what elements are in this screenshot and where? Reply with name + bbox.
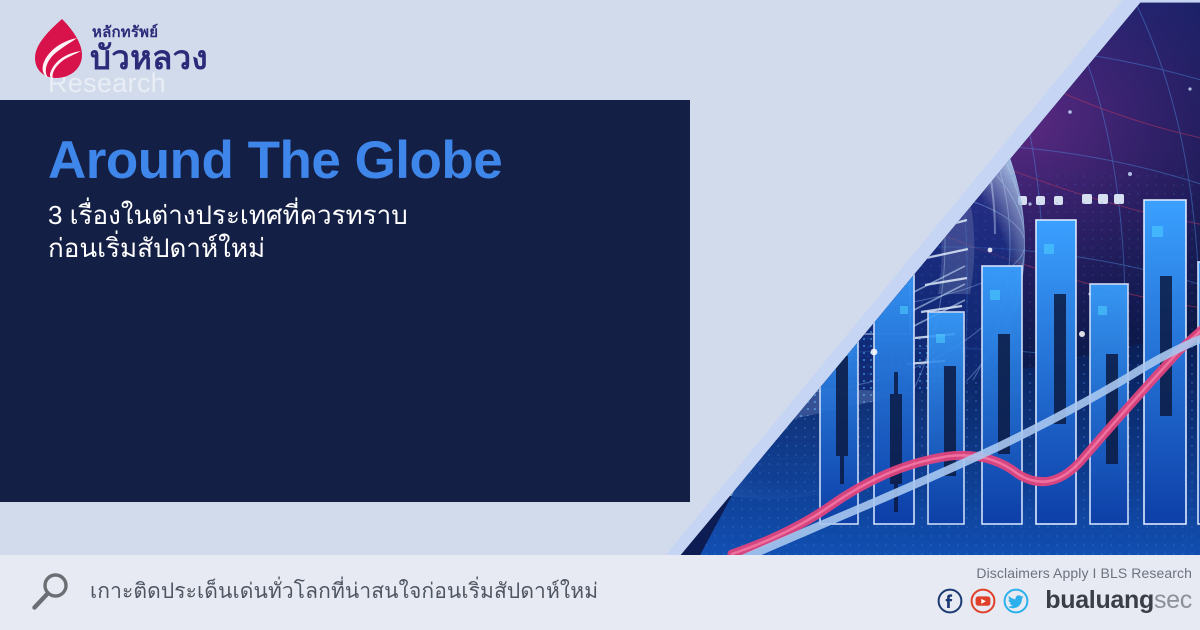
disclaimer-text: Disclaimers Apply I BLS Research bbox=[892, 565, 1192, 581]
handle-light: sec bbox=[1154, 586, 1192, 614]
logo-wordmark: หลักทรัพย์ บัวหลวง bbox=[90, 25, 208, 74]
logo-text-small: หลักทรัพย์ bbox=[92, 25, 208, 40]
svg-text:120,000: 120,000 bbox=[525, 508, 677, 555]
facebook-icon[interactable] bbox=[937, 588, 963, 614]
magnifier-icon bbox=[27, 569, 73, 615]
svg-text:2.0: 2.0 bbox=[722, 363, 778, 407]
research-banner: หลักทรัพย์ บัวหลวง Research Around The G… bbox=[0, 0, 1200, 630]
svg-text:2.06: 2.06 bbox=[720, 285, 798, 329]
social-links: bualuangsec bbox=[892, 586, 1192, 615]
lotus-flame-icon bbox=[32, 18, 84, 80]
bualuang-securities-logo: หลักทรัพย์ บัวหลวง bbox=[32, 10, 252, 88]
footer-bar: เกาะติดประเด็นเด่นทั่วโลกที่น่าสนใจก่อนเ… bbox=[0, 555, 1200, 630]
hero-text-block: Research Around The Globe 3 เรื่องในต่าง… bbox=[48, 68, 518, 265]
twitter-icon[interactable] bbox=[1003, 588, 1029, 614]
footer-tagline: เกาะติดประเด็นเด่นทั่วโลกที่น่าสนใจก่อนเ… bbox=[90, 575, 598, 608]
svg-text:2.06: 2.06 bbox=[708, 211, 786, 255]
footer-right-block: Disclaimers Apply I BLS Research bbox=[892, 565, 1192, 615]
logo-text-large: บัวหลวง bbox=[90, 41, 208, 74]
brand-handle: bualuangsec bbox=[1045, 586, 1192, 615]
youtube-icon[interactable] bbox=[970, 588, 996, 614]
subtitle: 3 เรื่องในต่างประเทศที่ควรทราบ ก่อนเริ่ม… bbox=[48, 199, 518, 266]
subtitle-line-1: 3 เรื่องในต่างประเทศที่ควรทราบ bbox=[48, 199, 518, 232]
page-title: Around The Globe bbox=[48, 133, 518, 189]
subtitle-line-2: ก่อนเริ่มสัปดาห์ใหม่ bbox=[48, 232, 518, 265]
handle-bold: bualuang bbox=[1045, 586, 1154, 614]
